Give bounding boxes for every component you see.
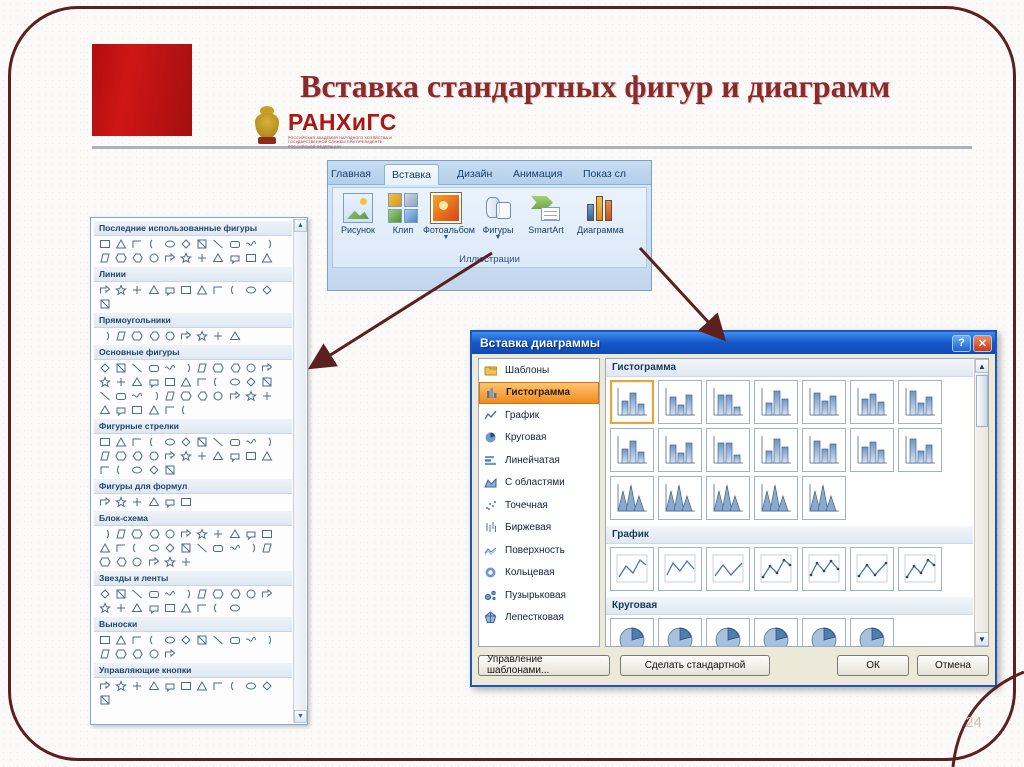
shape-item[interactable] (194, 389, 210, 403)
shape-item[interactable] (178, 527, 194, 541)
scroll-down-icon[interactable]: ▼ (294, 710, 307, 723)
set-as-default-button[interactable]: Сделать стандартной (620, 655, 770, 676)
chart-thumbnail[interactable] (850, 618, 894, 646)
ribbon-button-diagramma[interactable]: Диаграмма (577, 193, 623, 235)
shape-item[interactable] (227, 237, 243, 251)
shape-item[interactable] (210, 361, 226, 375)
chart-type-item-1[interactable]: Шаблоны (479, 359, 599, 382)
shape-item[interactable] (162, 389, 178, 403)
shape-item[interactable] (97, 463, 113, 477)
shape-item[interactable] (97, 329, 113, 343)
shape-item[interactable] (97, 527, 113, 541)
chart-type-item-11[interactable]: Пузырьковая (479, 584, 599, 607)
chart-thumbnail[interactable] (706, 476, 750, 520)
shape-item[interactable] (97, 361, 113, 375)
chart-thumbnail[interactable] (706, 547, 750, 591)
ribbon-button-figury[interactable]: Фигуры ▼ (475, 193, 521, 241)
shapes-category-header: Линии (94, 267, 292, 282)
chart-thumbnail[interactable] (754, 547, 798, 591)
shape-item[interactable] (113, 449, 129, 463)
shape-item[interactable] (113, 587, 129, 601)
chart-thumbnail[interactable] (754, 618, 798, 646)
shapes-icon (483, 193, 513, 223)
shape-item[interactable] (178, 587, 194, 601)
scroll-down-icon[interactable]: ▼ (975, 632, 989, 646)
shape-item[interactable] (113, 647, 129, 661)
shape-item[interactable] (129, 495, 145, 509)
chart-thumbnail[interactable] (706, 618, 750, 646)
ribbon-illustrations-group: Рисунок Клип Фотоальбом ▼ (332, 187, 647, 268)
tab-pokaz-slaydov[interactable]: Показ сл (576, 164, 633, 185)
chart-icon (585, 193, 615, 223)
shapes-gallery-scrollbar[interactable]: ▲ ▼ (293, 219, 306, 723)
shape-item[interactable] (194, 435, 210, 449)
chart-thumbnail[interactable] (706, 428, 750, 472)
shape-item[interactable] (243, 541, 259, 555)
shape-item[interactable] (243, 633, 259, 647)
shape-item[interactable] (97, 403, 113, 417)
shape-item[interactable] (162, 647, 178, 661)
shape-item[interactable] (129, 361, 145, 375)
shape-item[interactable] (146, 237, 162, 251)
shape-item[interactable] (162, 435, 178, 449)
shape-item[interactable] (129, 541, 145, 555)
shape-item[interactable] (162, 237, 178, 251)
shape-item[interactable] (243, 587, 259, 601)
chart-thumbnail[interactable] (658, 380, 702, 424)
shape-item[interactable] (146, 647, 162, 661)
shape-item[interactable] (113, 283, 129, 297)
shape-item[interactable] (194, 361, 210, 375)
shape-item[interactable] (243, 237, 259, 251)
shape-item[interactable] (146, 601, 162, 615)
shape-item[interactable] (194, 679, 210, 693)
shape-item[interactable] (129, 449, 145, 463)
shape-item[interactable] (146, 495, 162, 509)
shape-item[interactable] (178, 283, 194, 297)
stock-chart-icon (484, 521, 498, 534)
tab-animatsiya[interactable]: Анимация (506, 164, 569, 185)
chart-type-item-8[interactable]: Биржевая (479, 517, 599, 540)
chevron-down-icon[interactable]: ▼ (423, 235, 469, 241)
shape-item[interactable] (129, 283, 145, 297)
chart-thumbnail[interactable] (658, 547, 702, 591)
shape-item[interactable] (97, 375, 113, 389)
chart-thumbnail[interactable] (850, 428, 894, 472)
help-icon[interactable]: ? (952, 335, 971, 352)
ribbon-button-fotoalbom[interactable]: Фотоальбом ▼ (423, 193, 469, 241)
chart-thumbnail[interactable] (754, 428, 798, 472)
shape-item[interactable] (243, 283, 259, 297)
chart-type-item-5[interactable]: Линейчатая (479, 449, 599, 472)
shape-item[interactable] (113, 541, 129, 555)
scroll-up-icon[interactable]: ▲ (975, 359, 989, 373)
chart-thumbnail[interactable] (898, 380, 942, 424)
shape-item[interactable] (194, 541, 210, 555)
shape-item[interactable] (243, 361, 259, 375)
shape-item[interactable] (259, 449, 275, 463)
shape-item[interactable] (210, 541, 226, 555)
shape-item[interactable] (113, 375, 129, 389)
chart-type-item-12[interactable]: Лепестковая (479, 607, 599, 630)
shape-item[interactable] (129, 251, 145, 265)
shape-item[interactable] (113, 251, 129, 265)
chart-type-label: Круговая (505, 432, 546, 443)
shape-item[interactable] (113, 435, 129, 449)
shape-item[interactable] (146, 389, 162, 403)
shape-item[interactable] (162, 495, 178, 509)
shapes-category-header: Фигурные стрелки (94, 419, 292, 434)
chart-type-label: Биржевая (505, 522, 551, 533)
photo-album-icon (431, 193, 461, 223)
shape-item[interactable] (210, 527, 226, 541)
shape-item[interactable] (227, 541, 243, 555)
shape-item[interactable] (162, 449, 178, 463)
shape-item[interactable] (210, 449, 226, 463)
shape-item[interactable] (227, 283, 243, 297)
shape-item[interactable] (146, 435, 162, 449)
shape-item[interactable] (146, 329, 162, 343)
shapes-category-grid (94, 632, 292, 663)
shape-item[interactable] (129, 435, 145, 449)
shape-item[interactable] (259, 541, 275, 555)
shape-item[interactable] (146, 283, 162, 297)
chart-thumbnail[interactable] (610, 618, 654, 646)
shape-item[interactable] (227, 375, 243, 389)
shape-item[interactable] (259, 237, 275, 251)
ribbon-button-klip[interactable]: Клип (380, 193, 426, 235)
shape-item[interactable] (178, 679, 194, 693)
gallery-section-header: График (606, 526, 973, 544)
shape-item[interactable] (129, 389, 145, 403)
shape-item[interactable] (162, 375, 178, 389)
shape-item[interactable] (259, 389, 275, 403)
shape-item[interactable] (227, 435, 243, 449)
shape-item[interactable] (210, 237, 226, 251)
shape-item[interactable] (178, 403, 194, 417)
chart-thumbnail[interactable] (610, 547, 654, 591)
chart-thumbnail[interactable] (658, 618, 702, 646)
shape-item[interactable] (146, 555, 162, 569)
shape-item[interactable] (129, 527, 145, 541)
shape-item[interactable] (210, 375, 226, 389)
shape-item[interactable] (243, 679, 259, 693)
shape-item[interactable] (227, 389, 243, 403)
shape-item[interactable] (194, 237, 210, 251)
shape-item[interactable] (97, 495, 113, 509)
shape-item[interactable] (146, 449, 162, 463)
shape-item[interactable] (259, 375, 275, 389)
shape-item[interactable] (178, 435, 194, 449)
shape-item[interactable] (97, 679, 113, 693)
cancel-button[interactable]: Отмена (917, 655, 989, 676)
chart-type-item-3[interactable]: График (479, 404, 599, 427)
shape-item[interactable] (259, 633, 275, 647)
shape-item[interactable] (243, 375, 259, 389)
shapes-category-header: Блок-схема (94, 511, 292, 526)
chart-thumbnail[interactable] (802, 547, 846, 591)
shape-item[interactable] (113, 389, 129, 403)
shape-item[interactable] (146, 587, 162, 601)
chart-thumbnail[interactable] (898, 547, 942, 591)
shape-item[interactable] (146, 361, 162, 375)
chart-thumbnail[interactable] (850, 380, 894, 424)
chart-thumbnail[interactable] (658, 476, 702, 520)
shape-item[interactable] (259, 527, 275, 541)
shape-item[interactable] (146, 541, 162, 555)
shape-item[interactable] (194, 251, 210, 265)
shapes-category-grid (94, 494, 292, 511)
chart-thumbnail[interactable] (802, 428, 846, 472)
shape-item[interactable] (113, 403, 129, 417)
shape-item[interactable] (113, 495, 129, 509)
shape-item[interactable] (146, 679, 162, 693)
shape-item[interactable] (194, 527, 210, 541)
shape-item[interactable] (227, 449, 243, 463)
ribbon-button-smartart[interactable]: SmartArt (523, 193, 569, 235)
shape-item[interactable] (194, 601, 210, 615)
shape-item[interactable] (129, 403, 145, 417)
scrollbar-thumb[interactable] (976, 375, 988, 427)
shape-item[interactable] (194, 449, 210, 463)
ribbon-button-label: Клип (380, 225, 426, 235)
chart-type-label: Гистограмма (506, 387, 570, 398)
shape-item[interactable] (113, 329, 129, 343)
chart-type-item-6[interactable]: С областями (479, 472, 599, 495)
shape-item[interactable] (146, 527, 162, 541)
chart-thumbnail[interactable] (802, 380, 846, 424)
shape-item[interactable] (178, 541, 194, 555)
shape-item[interactable] (243, 449, 259, 463)
shape-item[interactable] (146, 463, 162, 477)
shape-item[interactable] (129, 633, 145, 647)
shape-item[interactable] (194, 375, 210, 389)
shape-item[interactable] (210, 601, 226, 615)
chart-type-item-9[interactable]: Поверхность (479, 539, 599, 562)
shape-item[interactable] (178, 633, 194, 647)
chart-type-label: Шаблоны (505, 365, 549, 376)
shape-item[interactable] (259, 587, 275, 601)
shape-item[interactable] (97, 435, 113, 449)
page-title: Вставка стандартных фигур и диаграмм (300, 68, 970, 105)
shape-item[interactable] (129, 375, 145, 389)
shape-item[interactable] (178, 237, 194, 251)
doughnut-chart-icon (484, 566, 498, 579)
shape-item[interactable] (97, 283, 113, 297)
shape-item[interactable] (113, 237, 129, 251)
shape-item[interactable] (97, 555, 113, 569)
shape-item[interactable] (97, 541, 113, 555)
shape-item[interactable] (210, 389, 226, 403)
shape-item[interactable] (162, 679, 178, 693)
shape-item[interactable] (97, 389, 113, 403)
ok-button[interactable]: ОК (837, 655, 909, 676)
chart-thumbnail[interactable] (610, 476, 654, 520)
chevron-down-icon[interactable]: ▼ (475, 235, 521, 241)
shape-item[interactable] (146, 375, 162, 389)
chart-thumbnail[interactable] (754, 476, 798, 520)
shape-item[interactable] (129, 555, 145, 569)
shape-item[interactable] (97, 297, 113, 311)
shape-item[interactable] (259, 283, 275, 297)
shape-item[interactable] (178, 329, 194, 343)
shape-item[interactable] (210, 283, 226, 297)
shape-item[interactable] (162, 541, 178, 555)
shapes-category-grid (94, 586, 292, 617)
shape-item[interactable] (227, 329, 243, 343)
shape-item[interactable] (97, 693, 113, 707)
shape-item[interactable] (129, 679, 145, 693)
shape-item[interactable] (227, 601, 243, 615)
chart-thumbnail[interactable] (802, 476, 846, 520)
shapes-category-header: Последние использованные фигуры (94, 221, 292, 236)
tab-glavnaya[interactable]: Главная (324, 164, 378, 185)
shape-item[interactable] (227, 679, 243, 693)
shape-item[interactable] (194, 329, 210, 343)
shape-item[interactable] (162, 403, 178, 417)
chart-type-label: Поверхность (505, 545, 565, 556)
bubble-chart-icon (484, 589, 498, 602)
shape-item[interactable] (210, 329, 226, 343)
shape-item[interactable] (97, 647, 113, 661)
shape-item[interactable] (194, 283, 210, 297)
chart-thumbnail[interactable] (610, 428, 654, 472)
shape-item[interactable] (194, 587, 210, 601)
shape-item[interactable] (178, 555, 194, 569)
shape-item[interactable] (227, 361, 243, 375)
shape-item[interactable] (97, 251, 113, 265)
shape-item[interactable] (178, 375, 194, 389)
chart-thumbnail[interactable] (802, 618, 846, 646)
chart-thumbnail[interactable] (898, 428, 942, 472)
shape-item[interactable] (227, 587, 243, 601)
chart-gallery-scrollbar[interactable]: ▲ ▼ (974, 359, 988, 646)
dialog-footer: Управление шаблонами... Сделать стандарт… (478, 651, 989, 679)
shape-item[interactable] (113, 527, 129, 541)
shape-item[interactable] (194, 633, 210, 647)
shapes-category-grid (94, 678, 292, 709)
tab-dizayn[interactable]: Дизайн (450, 164, 499, 185)
shape-item[interactable] (97, 601, 113, 615)
shape-item[interactable] (146, 403, 162, 417)
ribbon-group-label: Иллюстрации (333, 254, 646, 265)
scroll-up-icon[interactable]: ▲ (294, 219, 307, 232)
chart-thumbnail[interactable] (658, 428, 702, 472)
shapes-category-grid (94, 434, 292, 479)
shape-item[interactable] (129, 601, 145, 615)
shape-item[interactable] (113, 555, 129, 569)
shape-item[interactable] (162, 361, 178, 375)
shape-item[interactable] (178, 361, 194, 375)
shape-item[interactable] (243, 435, 259, 449)
shape-item[interactable] (129, 587, 145, 601)
shape-item[interactable] (178, 449, 194, 463)
shape-item[interactable] (97, 587, 113, 601)
shape-item[interactable] (113, 633, 129, 647)
shape-item[interactable] (129, 329, 145, 343)
chart-gallery: ГистограммаГрафикКруговая ▲ ▼ (605, 358, 989, 647)
chart-thumbnail[interactable] (610, 380, 654, 424)
chart-type-label: С областями (505, 477, 565, 488)
chart-type-item-7[interactable]: Точечная (479, 494, 599, 517)
ribbon-button-label: Рисунок (335, 225, 381, 235)
shape-item[interactable] (178, 251, 194, 265)
shape-item[interactable] (178, 389, 194, 403)
chart-thumbnail[interactable] (850, 547, 894, 591)
gallery-section-header: Круговая (606, 597, 973, 615)
chart-type-item-10[interactable]: Кольцевая (479, 562, 599, 585)
shape-item[interactable] (113, 361, 129, 375)
shape-item[interactable] (259, 435, 275, 449)
shape-item[interactable] (162, 329, 178, 343)
shape-item[interactable] (113, 679, 129, 693)
shape-item[interactable] (259, 251, 275, 265)
shape-item[interactable] (162, 527, 178, 541)
shapes-category-header: Основные фигуры (94, 345, 292, 360)
chart-type-item-2[interactable]: Гистограмма (479, 382, 599, 405)
shape-item[interactable] (113, 601, 129, 615)
shape-item[interactable] (113, 463, 129, 477)
folder-icon (484, 364, 498, 377)
shape-item[interactable] (259, 361, 275, 375)
shape-item[interactable] (210, 633, 226, 647)
shape-item[interactable] (210, 435, 226, 449)
shape-item[interactable] (97, 237, 113, 251)
shape-item[interactable] (162, 283, 178, 297)
shape-item[interactable] (97, 449, 113, 463)
shape-item[interactable] (146, 251, 162, 265)
chart-gallery-body: ГистограммаГрафикКруговая (606, 359, 973, 646)
shape-item[interactable] (162, 555, 178, 569)
dialog-title-bar[interactable]: Вставка диаграммы ? ✕ (472, 332, 995, 354)
manage-templates-button[interactable]: Управление шаблонами... (478, 655, 610, 676)
shape-item[interactable] (227, 251, 243, 265)
shape-item[interactable] (227, 527, 243, 541)
shape-item[interactable] (162, 587, 178, 601)
shape-item[interactable] (129, 237, 145, 251)
area-chart-icon (484, 476, 498, 489)
shape-item[interactable] (178, 601, 194, 615)
chart-thumbnail[interactable] (754, 380, 798, 424)
shape-item[interactable] (129, 463, 145, 477)
shape-item[interactable] (162, 251, 178, 265)
tab-vstavka[interactable]: Вставка (384, 164, 439, 185)
shape-item[interactable] (210, 251, 226, 265)
shape-item[interactable] (243, 389, 259, 403)
shape-item[interactable] (146, 633, 162, 647)
shape-item[interactable] (210, 587, 226, 601)
surface-chart-icon (484, 544, 498, 557)
shape-item[interactable] (97, 633, 113, 647)
shape-item[interactable] (162, 633, 178, 647)
ribbon-button-risunok[interactable]: Рисунок (335, 193, 381, 235)
shape-item[interactable] (162, 463, 178, 477)
chart-type-item-4[interactable]: Круговая (479, 427, 599, 450)
shape-item[interactable] (162, 601, 178, 615)
page-number: 24 (965, 714, 982, 731)
shape-item[interactable] (227, 633, 243, 647)
chart-type-list[interactable]: ШаблоныГистограммаГрафикКруговаяЛинейчат… (478, 358, 600, 647)
close-icon[interactable]: ✕ (973, 335, 992, 352)
shape-item[interactable] (243, 527, 259, 541)
shape-item[interactable] (210, 679, 226, 693)
shape-item[interactable] (178, 495, 194, 509)
shape-item[interactable] (129, 647, 145, 661)
shape-item[interactable] (259, 679, 275, 693)
chart-thumbnail[interactable] (706, 380, 750, 424)
shape-item[interactable] (243, 251, 259, 265)
ribbon-button-label: SmartArt (523, 225, 569, 235)
